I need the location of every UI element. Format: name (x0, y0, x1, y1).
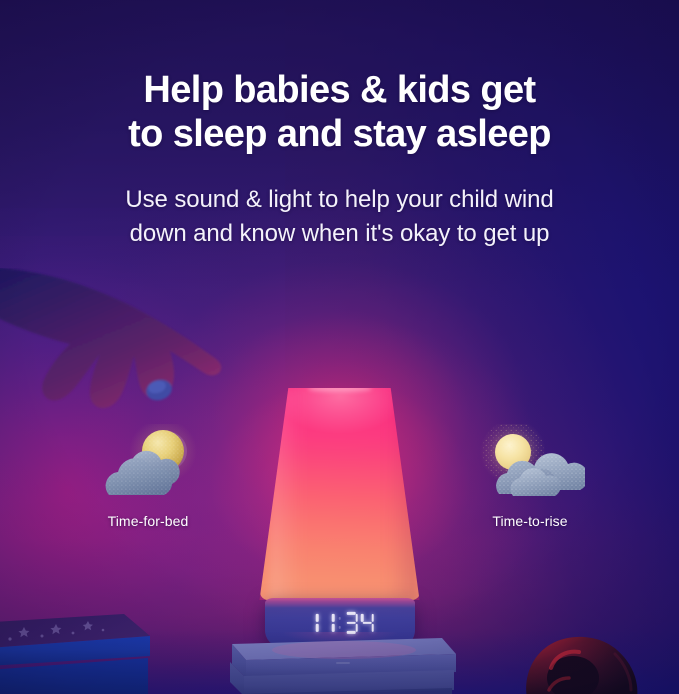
subhead-line-2: down and know when it's okay to get up (0, 217, 679, 251)
toy-silhouette (521, 620, 651, 694)
book-with-stars (0, 614, 182, 694)
badge-label-time-to-rise: Time-to-rise (455, 513, 605, 529)
lamp-light-shade (260, 388, 420, 600)
badge-label-time-for-bed: Time-for-bed (73, 513, 223, 529)
sleep-trainer-lamp[interactable] (260, 388, 420, 646)
subhead-line-1: Use sound & light to help your child win… (0, 183, 679, 217)
badge-time-for-bed[interactable]: Time-for-bed (73, 424, 223, 529)
page-title: Help babies & kids get to sleep and stay… (0, 0, 679, 156)
page-subtitle: Use sound & light to help your child win… (0, 156, 679, 251)
hand-silhouette (0, 268, 300, 438)
headline-line-1: Help babies & kids get (0, 68, 679, 112)
headline-line-2: to sleep and stay asleep (0, 112, 679, 156)
moon-behind-clouds-icon (93, 424, 203, 504)
hero-copy: Help babies & kids get to sleep and stay… (0, 0, 679, 251)
stacked-books (216, 620, 464, 694)
sun-behind-clouds-icon (475, 424, 585, 504)
product-hero-image: Time-for-bed (0, 0, 679, 694)
badge-time-to-rise[interactable]: Time-to-rise (455, 424, 605, 529)
